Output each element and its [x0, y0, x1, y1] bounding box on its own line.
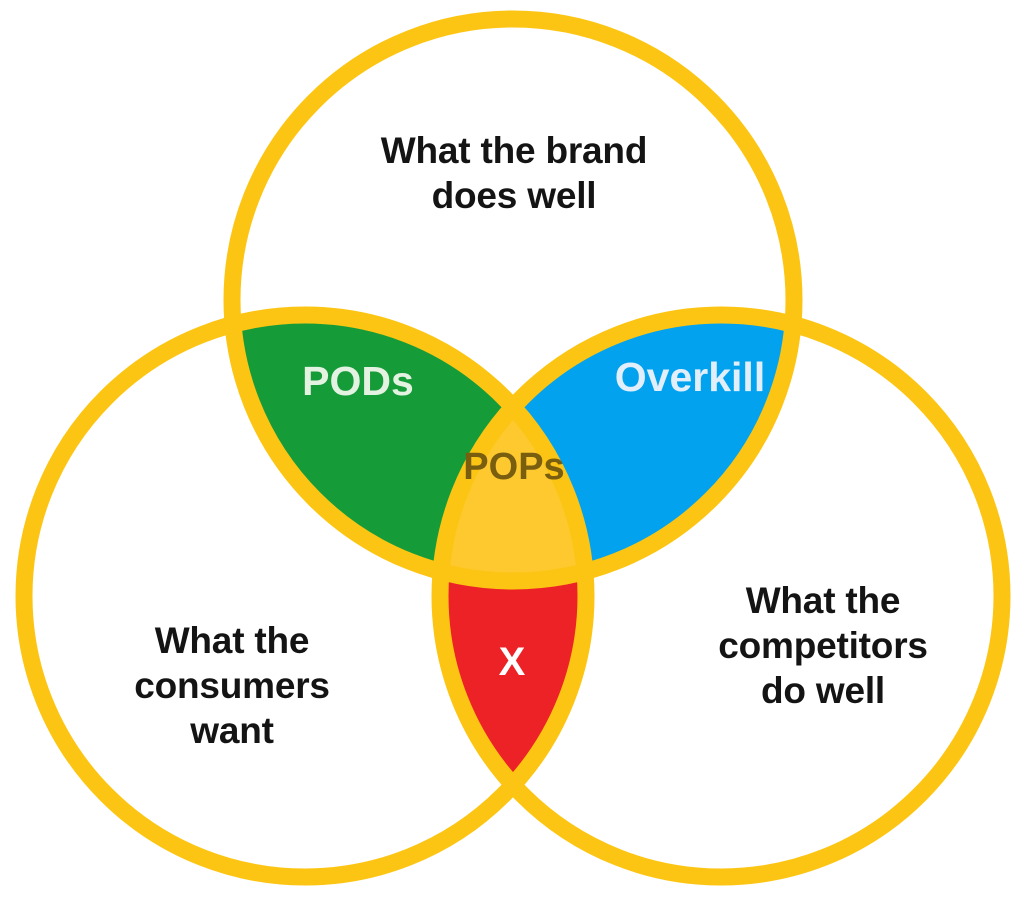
set-label-consumers: What the consumers want — [72, 618, 392, 753]
set-label-brand: What the brand does well — [304, 128, 724, 218]
region-label-overkill: Overkill — [560, 352, 820, 402]
set-label-competitors: What the competitors do well — [658, 578, 988, 713]
venn-diagram: What the brand does well What the consum… — [0, 0, 1024, 917]
region-label-x: X — [432, 638, 592, 687]
region-label-pods: PODs — [238, 356, 478, 406]
region-label-pops: POPs — [404, 444, 624, 490]
